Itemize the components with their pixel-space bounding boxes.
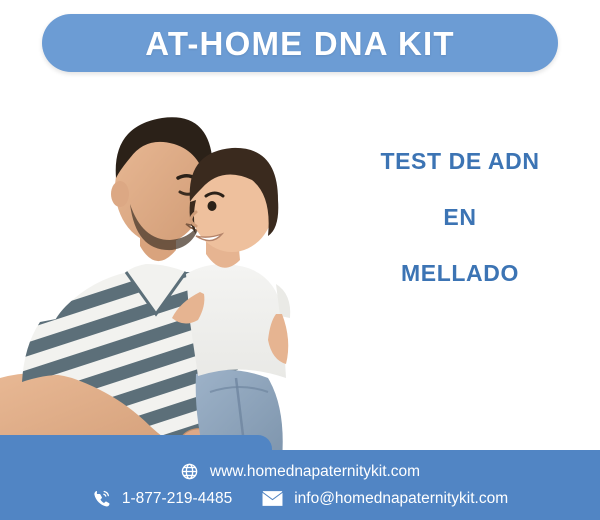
website-label: www.homednapaternitykit.com	[210, 464, 420, 480]
poster-canvas: AT-HOME DNA KIT	[0, 0, 600, 520]
headline-block: TEST DE ADN EN MELLADO	[330, 150, 590, 285]
family-photo	[0, 78, 340, 460]
website-contact[interactable]: www.homednapaternitykit.com	[180, 462, 420, 481]
headline-line-1: TEST DE ADN	[330, 150, 590, 173]
footer-contact-rows: www.homednapaternitykit.com 1-877-219-44…	[0, 450, 600, 520]
phone-contact[interactable]: 1-877-219-4485	[92, 489, 232, 508]
phone-icon	[92, 489, 111, 508]
email-contact[interactable]: info@homednapaternitykit.com	[262, 490, 508, 507]
banner-title: AT-HOME DNA KIT	[145, 27, 454, 60]
footer-row-phone-email: 1-877-219-4485 info@homednapaternitykit.…	[92, 489, 508, 508]
footer-row-website: www.homednapaternitykit.com	[180, 462, 420, 481]
headline-line-2: EN	[330, 206, 590, 229]
email-label: info@homednapaternitykit.com	[294, 491, 508, 507]
header-banner: AT-HOME DNA KIT	[42, 14, 558, 72]
phone-label: 1-877-219-4485	[122, 491, 232, 507]
globe-icon	[180, 462, 199, 481]
envelope-icon	[262, 490, 283, 507]
headline-line-3: MELLADO	[330, 262, 590, 285]
